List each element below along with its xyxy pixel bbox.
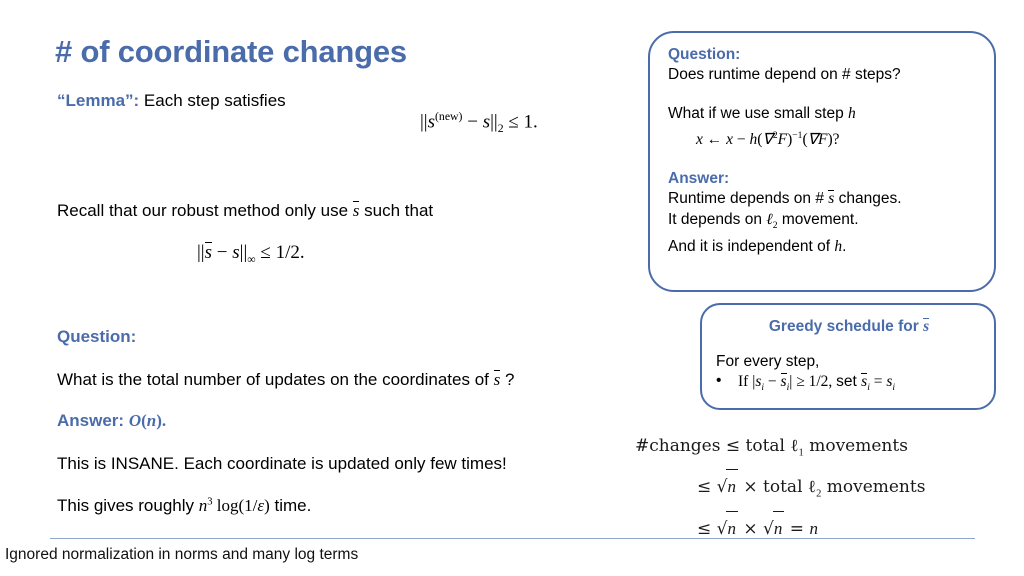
footer-divider [50,538,975,539]
ell-2-symbol: ℓ2 [766,211,777,228]
qa-small-step-line: What if we use small step h [668,103,978,124]
question-text-after: ? [505,370,514,389]
qa-answer-label: Answer: [668,170,978,188]
question-label: Question: [57,327,136,347]
time-text-before: This gives roughly [57,496,194,515]
answer-label: Answer: [57,411,124,430]
derivation-line-1: #changes ≤ total ℓ1 movements [635,430,925,469]
question-answer-callout: Question: Does runtime depend on # steps… [648,31,996,292]
s-bar-symbol: s [494,370,501,389]
step-size-symbol: h [834,238,842,255]
answer-value: O [129,411,141,430]
step-size-symbol: h [848,105,856,122]
lemma-equation: ||s(new) − s||2 ≤ 1. [420,110,538,136]
bullet-icon: • [716,372,738,393]
qa-answer-2-before: It depends on [668,211,762,228]
derivation-block: #changes ≤ total ℓ1 movements ≤ √n × tot… [635,430,925,545]
greedy-bullet-item: • If |si − si| ≥ 1/2, set si = si [716,371,982,393]
lemma-text: Each step satisfies [144,91,286,110]
recall-statement: Recall that our robust method only use s… [57,200,433,221]
qa-question-line: Does runtime depend on # steps? [668,64,978,85]
qa-answer-1-before: Runtime depends on # [668,190,824,207]
time-text-after: time. [274,496,311,515]
greedy-title-text: Greedy schedule for [769,318,919,335]
qa-answer-line-1: Runtime depends on # s changes. [668,188,978,209]
qa-answer-3-before: And it is independent of [668,238,830,255]
s-bar-symbol: s [828,190,834,207]
page-title: # of coordinate changes [55,34,407,70]
spacer [668,85,978,103]
qa-answer-1-after: changes. [839,190,902,207]
qa-answer-line-3: And it is independent of h. [668,236,978,257]
recall-text-before: Recall that our robust method only use [57,201,348,220]
spacer [668,152,978,170]
lemma-label: “Lemma”: [57,91,139,110]
qa-answer-line-2: It depends on ℓ2 movement. [668,209,978,236]
question-text: What is the total number of updates on t… [57,369,514,390]
time-expression: n [199,496,208,515]
insane-remark: This is INSANE. Each coordinate is updat… [57,454,507,474]
derivation-line-3: ≤ √n × √n = n [635,511,925,545]
s-bar-symbol: s [353,201,360,220]
recall-text-after: such that [364,201,433,220]
time-complexity-line: This gives roughly n3 log(1/ε) time. [57,496,311,516]
greedy-for-every-step: For every step, [716,336,982,371]
greedy-title: Greedy schedule for s [716,315,982,336]
derivation-line-2: ≤ √n × total ℓ2 movements [635,469,925,510]
s-bar-symbol: s [923,318,929,335]
footer-note: Ignored normalization in norms and many … [5,546,358,564]
answer-line: Answer: O(n). [57,411,166,431]
qa-small-step-text: What if we use small step [668,105,844,122]
qa-question-label: Question: [668,46,978,64]
qa-answer-2-after: movement. [782,211,859,228]
lemma-statement: “Lemma”: Each step satisfies [57,91,286,111]
qa-newton-equation: x ← x − h(∇2F)−1(∇F)? [668,124,978,152]
greedy-schedule-callout: Greedy schedule for s For every step, • … [700,303,996,410]
recall-equation: ||s − s||∞ ≤ 1/2. [197,241,305,267]
question-text-before: What is the total number of updates on t… [57,370,489,389]
qa-answer-3-after: . [842,238,846,255]
greedy-bullet-rule: If |si − si| ≥ 1/2, set si = si [738,372,895,393]
